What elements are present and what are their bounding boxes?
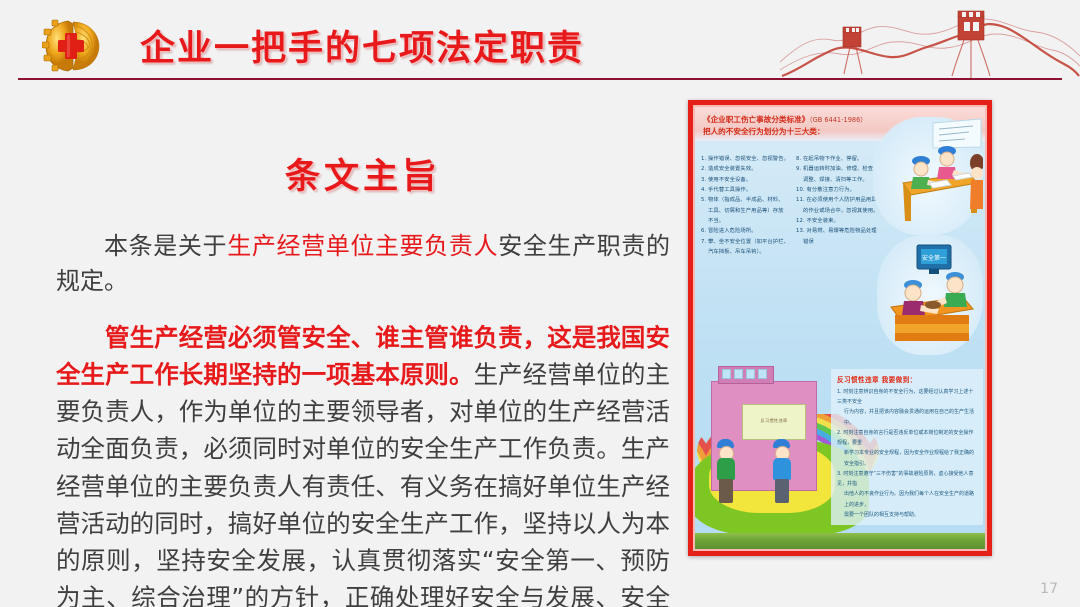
slogan-title: 反习惯性违章 我要做到： [837,374,978,384]
category-column-left: 1. 操作错误、忽视安全、忽视警告。 2. 造成安全装置失效。 3. 使用不安全… [701,154,790,257]
slogan-item: 出他人的不良作业行为。因为我们每个人在安全生产的道路上的进步， [837,489,978,510]
poster-standard-name: 《企业职工伤亡事故分类标准》 [703,115,809,124]
slogan-item: 行为内容，并且把该内容融会贯通的运用在自己的生产生活中。 [837,407,978,428]
slide-canvas: 企业一把手的七项法定职责 [0,0,1080,607]
body-rest: 生产经营单位的主要负责人，作为单位的主要领导者，对单位的生产经营活动全面负责，必… [56,360,670,607]
worker-legs [775,479,789,503]
category-item: 3. 使用不安全设备。 [701,175,790,185]
category-item: 12. 不安全装束。 [796,216,885,226]
worker-body [717,458,735,480]
category-item: 13. 对易燃、易爆等危险物品处理 [796,226,885,236]
category-item: 5. 物体（指成品、半成品、材料、 [701,195,790,205]
worker-figure-left [717,439,737,505]
lead-highlight: 生产经营单位主要负责人 [227,232,498,260]
notice-board-label: 反习惯性违章 [743,418,805,424]
content-column: 条文主旨 本条是关于生产经营单位主要负责人安全生产职责的规定。 管生产经营必须管… [56,96,670,596]
svg-text:安全第一: 安全第一 [922,254,946,262]
page-title: 企业一把手的七项法定职责 [140,20,584,71]
slogan-item: 需要一个团队的相互支持与帮助。 [837,510,978,520]
category-item: 6. 冒险进入危险场所。 [701,226,790,236]
slide-header: 企业一把手的七项法定职责 [0,0,1080,84]
poster-inner-frame: 《企业职工伤亡事故分类标准》（GB 6441-1986） 把人的不安全行为划分为… [693,105,987,551]
category-item: 4. 手代替工具操作。 [701,185,790,195]
slogan-panel: 反习惯性违章 我要做到： 1. 时刻注意辨识自身的不安全行为，这要经过认真学习上… [831,369,983,525]
lead-sentence: 本条是关于生产经营单位主要负责人安全生产职责的规定。 [56,229,670,299]
lead-before: 本条是关于 [104,232,227,260]
category-item: 不当。 [701,216,790,226]
header-divider [18,78,1062,80]
worker-figure-right [773,439,793,505]
section-heading: 条文主旨 [56,148,670,199]
category-column-right: 8. 在起吊物下作业、停留。 9. 机器运转时加油、修理、检查、 调整、焊接、清… [796,154,885,257]
slogan-item: 1. 时刻注意辨识自身的不安全行为，这要经过认真学习上述十三类不安全 [837,387,978,408]
category-list: 1. 操作错误、忽视安全、忽视警告。 2. 造成安全装置失效。 3. 使用不安全… [695,154,891,257]
category-item: 2. 造成安全装置失效。 [701,164,790,174]
worker-body [773,458,791,480]
category-item: 1. 操作错误、忽视安全、忽视警告。 [701,154,790,164]
safety-emblem-icon [42,17,104,75]
great-wall-illustration [780,0,1080,82]
category-item: 的作业或场合中，忽视其使用。 [796,206,885,216]
category-item: 7. 攀、坐不安全位置（如平台护栏、 [701,237,790,247]
safety-poster-image: 《企业职工伤亡事故分类标准》（GB 6441-1986） 把人的不安全行为划分为… [688,100,992,556]
poster-footer-strip [695,533,985,549]
category-item: 10. 有分散注意力行为。 [796,185,885,195]
slogan-item: 新学习本专业的安全规程，因为安全作业规程给了我正确的安全指引。 [837,448,978,469]
workers-training-illustration [873,117,983,235]
workers-at-desk-illustration: 安全第一 [877,235,983,355]
body-paragraph: 管生产经营必须管安全、谁主管谁负责，这是我国安全生产工作长期坚持的一项基本原则。… [56,319,670,607]
worker-legs [719,479,733,503]
building-window [758,369,767,379]
category-item: 9. 机器运转时加油、修理、检查、 [796,164,885,174]
poster-standard-code: （GB 6441-1986） [809,116,867,124]
category-item: 工具、切屑和生产用品等）存放 [701,206,790,216]
category-item: 调整、焊接、清扫等工作。 [796,175,885,185]
slogan-item: 2. 时刻注意自身的言行是否违反单位或本岗位制定的安全操作规程，要重 [837,428,978,449]
building-window [734,369,743,379]
category-item: 汽车挡板、吊车吊钩）。 [701,247,790,257]
building-window [746,369,755,379]
building-window [722,369,731,379]
category-item: 错误 [796,237,885,247]
notice-board: 反习惯性违章 [742,404,806,440]
category-item: 8. 在起吊物下作业、停留。 [796,154,885,164]
category-item: 11. 在必须使用个人防护用品用具 [796,195,885,205]
page-number: 17 [1040,581,1058,597]
slogan-item: 3. 时刻注意遵守“三不伤害”的事故避险原则，虚心接受他人意见，并指 [837,469,978,490]
